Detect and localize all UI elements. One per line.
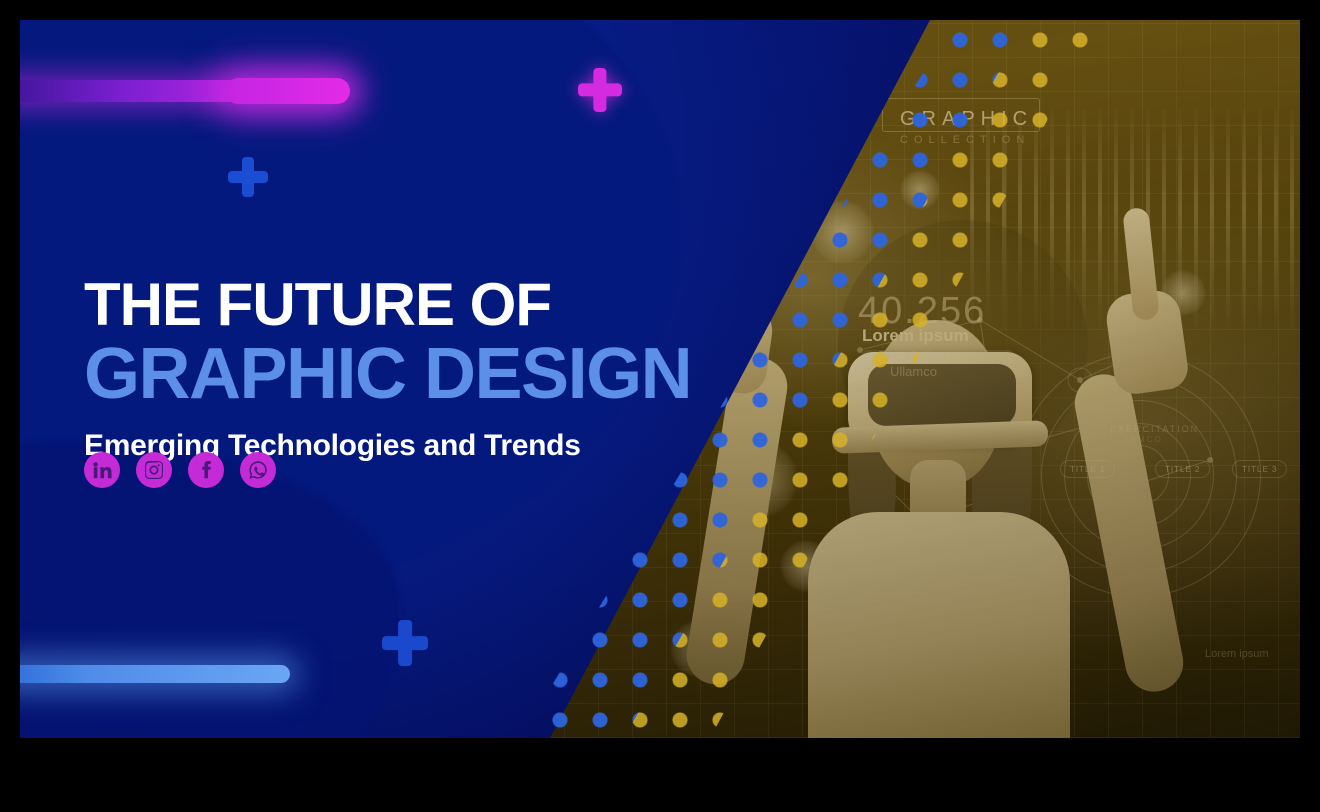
instagram-icon[interactable] [136,452,172,488]
hud-side-label-2: ULLAMCO [1110,435,1163,444]
magenta-accent-bar-highlight [225,78,350,104]
hud-pill-badge: TITLE 2 [1155,460,1210,478]
social-links [84,452,276,488]
figure-torso [808,512,1070,738]
hud-pill-badge: TITLE 3 [1232,460,1287,478]
linkedin-icon[interactable] [84,452,120,488]
facebook-icon[interactable] [188,452,224,488]
figure-arm-right [1070,369,1188,696]
page-title-line-2: GRAPHIC DESIGN [84,337,784,413]
hud-pill-badge: TITLE 1 [1060,460,1115,478]
blue-accent-bar [20,665,290,683]
slide-canvas: GRAPHIC COLLECTION 40.256 Lorem ipsum Ex… [20,20,1300,738]
plus-icon-blue-bottom [382,620,428,666]
headline-block: THE FUTURE OF GRAPHIC DESIGN Emerging Te… [84,275,784,463]
whatsapp-icon[interactable] [240,452,276,488]
hud-footer-label: Lorem ipsum [1205,648,1269,660]
plus-icon-magenta [578,68,622,112]
page-title-line-1: THE FUTURE OF [84,275,784,335]
hud-side-label-1: EXERCITATION [1110,424,1199,434]
plus-icon-blue-top [228,157,268,197]
